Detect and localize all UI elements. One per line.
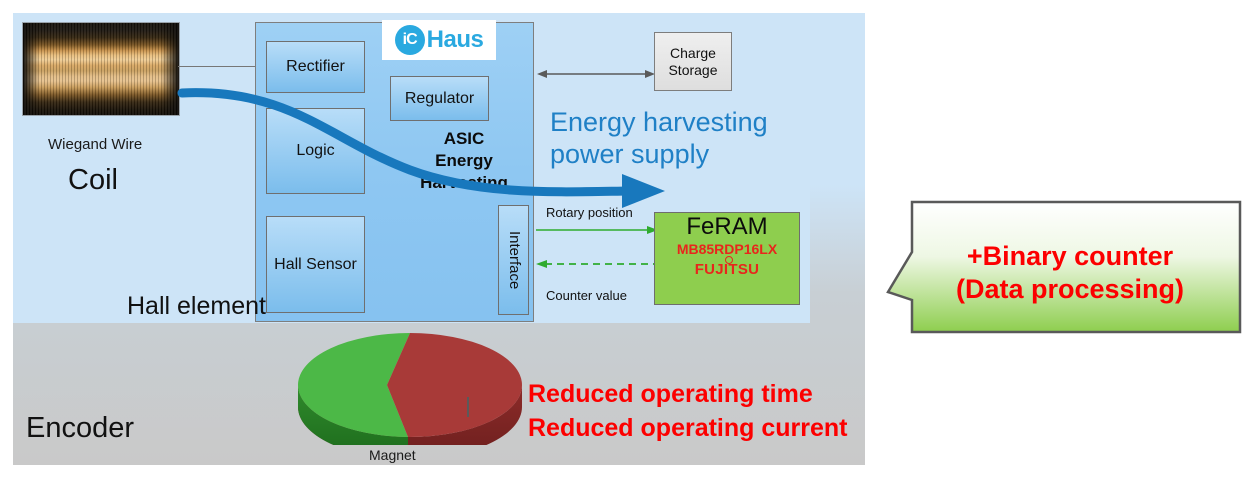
asic-title-line2: Energy xyxy=(398,150,530,172)
feram-title: FeRAM xyxy=(686,215,767,239)
asic-block-logic: Logic xyxy=(266,108,365,194)
binary-counter-callout-text: +Binary counter (Data processing) xyxy=(920,240,1220,306)
magnet-label: Magnet xyxy=(369,447,416,463)
asic-block-rectifier: Rectifier xyxy=(266,41,365,93)
asic-block-logic-label: Logic xyxy=(296,142,334,160)
asic-block-hall-sensor: Hall Sensor xyxy=(266,216,365,313)
benefits-line1: Reduced operating time xyxy=(528,378,948,412)
counter-value-label: Counter value xyxy=(546,288,627,303)
energy-harvesting-note: Energy harvesting power supply xyxy=(550,107,840,171)
magnet-pie-chart xyxy=(290,325,530,445)
asic-block-interface-label: Interface xyxy=(505,231,522,289)
encoder-label: Encoder xyxy=(26,412,134,445)
rotary-position-arrow-icon xyxy=(536,224,658,236)
energy-harvesting-note-line1: Energy harvesting xyxy=(550,107,840,139)
ic-haus-wordmark: Haus xyxy=(427,26,484,54)
wiegand-coil-photo xyxy=(22,22,180,116)
benefits-text: Reduced operating time Reduced operating… xyxy=(528,378,948,446)
feram-part-number: MB85RDP16LX xyxy=(677,241,777,257)
charge-storage-arrow-icon xyxy=(537,68,655,80)
rotary-position-label: Rotary position xyxy=(546,205,633,220)
ic-haus-circle-icon: iC xyxy=(395,25,425,55)
asic-block-interface: Interface xyxy=(498,205,529,315)
coil-shadow-right xyxy=(161,23,179,115)
charge-storage-line2: Storage xyxy=(668,62,717,79)
asic-block-rectifier-label: Rectifier xyxy=(286,58,345,76)
hall-element-label: Hall element xyxy=(127,292,266,321)
coil-label: Coil xyxy=(68,164,118,197)
coil-to-rectifier-wire xyxy=(178,66,256,67)
asic-title: ASIC Energy Harvesting xyxy=(398,128,530,193)
ic-haus-logo: iC Haus xyxy=(382,20,496,60)
wiegand-wire-label: Wiegand Wire xyxy=(48,136,142,153)
charge-storage-box: Charge Storage xyxy=(654,32,732,91)
diagram-canvas: Wiegand Wire Coil Rectifier Logic Hall S… xyxy=(0,0,1249,477)
benefits-line2: Reduced operating current xyxy=(528,412,948,446)
coil-shadow-left xyxy=(23,23,39,115)
fujitsu-logo: FUJITSU xyxy=(695,261,760,278)
energy-harvesting-note-line2: power supply xyxy=(550,139,840,171)
asic-title-line3: Harvesting xyxy=(398,172,530,194)
asic-block-regulator-label: Regulator xyxy=(405,90,474,108)
asic-block-regulator: Regulator xyxy=(390,76,489,121)
asic-block-hall-sensor-label: Hall Sensor xyxy=(274,256,357,274)
charge-storage-line1: Charge xyxy=(668,45,717,62)
callout-line2: (Data processing) xyxy=(920,273,1220,306)
callout-line1: +Binary counter xyxy=(920,240,1220,273)
counter-value-arrow-icon xyxy=(536,258,658,270)
asic-title-line1: ASIC xyxy=(398,128,530,150)
feram-box: FeRAM MB85RDP16LX FUJITSU xyxy=(654,212,800,305)
